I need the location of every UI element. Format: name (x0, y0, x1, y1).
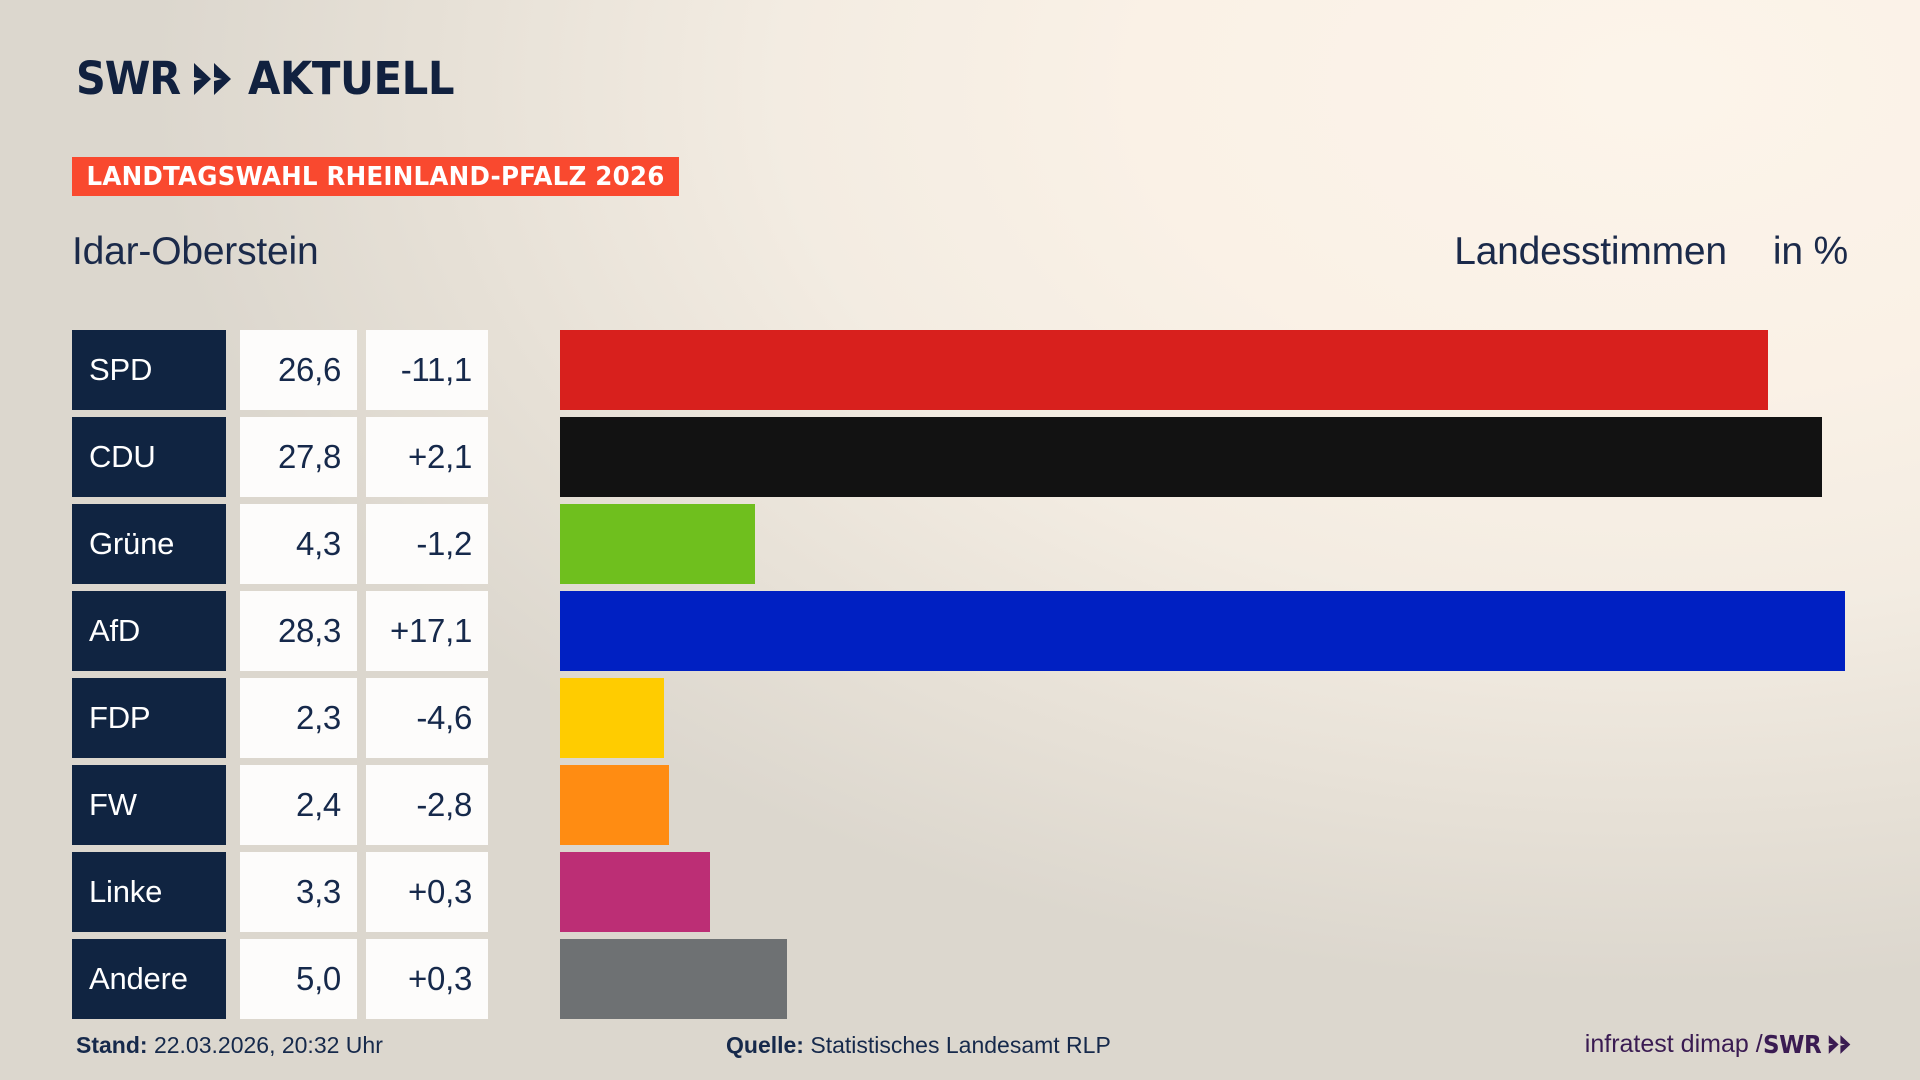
unit-label: in % (1773, 230, 1848, 274)
party-change-cell: +17,1 (366, 591, 488, 671)
election-kicker-banner: LANDTAGSWAHL RHEINLAND-PFALZ 2026 (72, 157, 679, 196)
vote-type-label: Landesstimmen (1454, 230, 1727, 274)
table-row: AfD28,3+17,1 (0, 591, 1920, 671)
election-result-graphic: SWR AKTUELL LANDTAGSWAHL RHEINLAND-PFALZ… (0, 0, 1920, 1080)
table-row: Linke3,3+0,3 (0, 852, 1920, 932)
table-row: FDP2,3-4,6 (0, 678, 1920, 758)
party-change-cell: -4,6 (366, 678, 488, 758)
double-chevron-right-icon (193, 61, 237, 97)
bar-track (560, 939, 1920, 1019)
party-name-cell: FW (72, 765, 226, 845)
bar-track (560, 678, 1920, 758)
bar-track (560, 852, 1920, 932)
aktuell-wordmark: AKTUELL (248, 56, 454, 101)
party-share-cell: 4,3 (240, 504, 357, 584)
party-bar (560, 504, 755, 584)
party-share-cell: 3,3 (240, 852, 357, 932)
source-info: Quelle: Statistisches Landesamt RLP (726, 1032, 1111, 1059)
party-share-cell: 2,4 (240, 765, 357, 845)
bar-track (560, 330, 1920, 410)
stand-value: 22.03.2026, 20:32 Uhr (154, 1032, 383, 1058)
quelle-value: Statistisches Landesamt RLP (810, 1032, 1110, 1058)
table-row: Grüne4,3-1,2 (0, 504, 1920, 584)
table-row: SPD26,6-11,1 (0, 330, 1920, 410)
party-name-cell: AfD (72, 591, 226, 671)
party-bar (560, 939, 787, 1019)
party-bar (560, 852, 710, 932)
party-name-cell: SPD (72, 330, 226, 410)
results-table: SPD26,6-11,1CDU27,8+2,1Grüne4,3-1,2AfD28… (0, 330, 1920, 1026)
party-bar (560, 765, 669, 845)
party-change-cell: -11,1 (366, 330, 488, 410)
credit-swr-wordmark: SWR (1763, 1030, 1821, 1059)
party-share-cell: 2,3 (240, 678, 357, 758)
bar-track (560, 417, 1920, 497)
region-name: Idar-Oberstein (72, 230, 318, 274)
credit-info: infratest dimap / SWR (1585, 1030, 1854, 1059)
party-share-cell: 27,8 (240, 417, 357, 497)
party-name-cell: Linke (72, 852, 226, 932)
stand-label: Stand: (76, 1032, 148, 1058)
table-row: Andere5,0+0,3 (0, 939, 1920, 1019)
party-change-cell: -2,8 (366, 765, 488, 845)
party-change-cell: +2,1 (366, 417, 488, 497)
party-share-cell: 26,6 (240, 330, 357, 410)
bar-track (560, 765, 1920, 845)
stand-info: Stand: 22.03.2026, 20:32 Uhr (76, 1032, 383, 1059)
swr-wordmark: SWR (76, 56, 180, 101)
party-bar (560, 417, 1822, 497)
party-share-cell: 28,3 (240, 591, 357, 671)
party-change-cell: -1,2 (366, 504, 488, 584)
party-name-cell: CDU (72, 417, 226, 497)
party-name-cell: Andere (72, 939, 226, 1019)
swr-aktuell-logo: SWR AKTUELL (76, 56, 470, 101)
party-change-cell: +0,3 (366, 852, 488, 932)
credit-text: infratest dimap / (1585, 1030, 1763, 1059)
party-share-cell: 5,0 (240, 939, 357, 1019)
double-chevron-right-icon (1828, 1034, 1854, 1055)
party-change-cell: +0,3 (366, 939, 488, 1019)
party-bar (560, 591, 1845, 671)
bar-track (560, 591, 1920, 671)
bar-track (560, 504, 1920, 584)
party-bar (560, 678, 664, 758)
table-row: CDU27,8+2,1 (0, 417, 1920, 497)
party-bar (560, 330, 1768, 410)
quelle-label: Quelle: (726, 1032, 804, 1058)
party-name-cell: FDP (72, 678, 226, 758)
party-name-cell: Grüne (72, 504, 226, 584)
footer: Stand: 22.03.2026, 20:32 Uhr Quelle: Sta… (0, 1018, 1920, 1080)
subheader: Idar-Oberstein Landesstimmen in % (72, 226, 1848, 278)
table-row: FW2,4-2,8 (0, 765, 1920, 845)
